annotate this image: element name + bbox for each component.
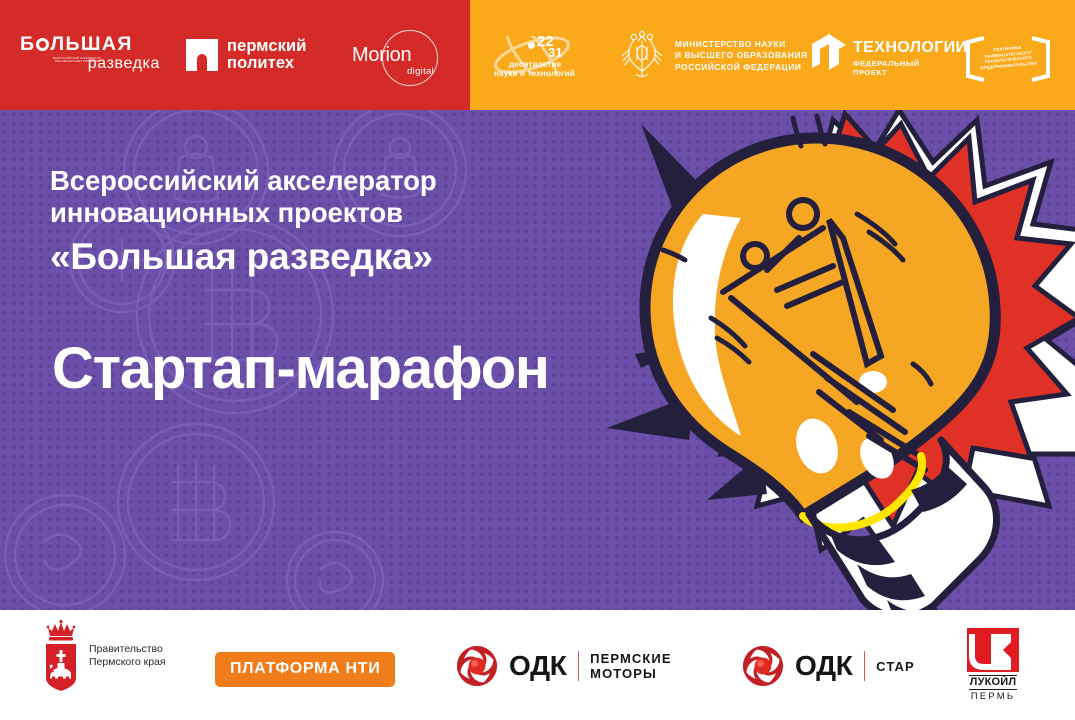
nti-platform-logo: ПЛАТФОРМА НТИ (215, 652, 395, 687)
polytech-wordmark: пермский политех (227, 38, 307, 72)
polytech-line1: пермский (227, 38, 307, 55)
bolshaya-tagline-line2: ИННОВАЦИОННЫХ ПРОЕКТОВ (46, 60, 108, 63)
morion-wordmark: Morion (352, 44, 411, 67)
tech-wordmark: ТЕХНОЛОГИИ ФЕДЕРАЛЬНЫЙ ПРОЕКТ (853, 34, 967, 77)
minobrnauki-line3: РОССИЙСКОЙ ФЕДЕРАЦИИ (675, 62, 808, 74)
odk-divider-star (864, 651, 866, 681)
odk-star-logo: ОДК СТАР (742, 645, 915, 687)
polytech-line2: политех (227, 55, 307, 72)
main-purple-panel: Всероссийский акселератор инновационных … (0, 110, 1075, 610)
tech-subtitle: ФЕДЕРАЛЬНЫЙ ПРОЕКТ (853, 59, 967, 77)
bolshaya-rest: ЛЬШАЯ (50, 33, 132, 55)
odk-pm-sub-line2: МОТОРЫ (590, 666, 671, 681)
university-tech-platform-logo: ПЛАТФОРМА УНИВЕРСИТЕТСКОГО ТЕХНОЛОГИЧЕСК… (962, 36, 1054, 82)
tech-title: ТЕХНОЛОГИИ (853, 39, 967, 56)
tech-sub-line1: ФЕДЕРАЛЬНЫЙ (853, 59, 967, 68)
bolshaya-letter-b: Б (20, 33, 35, 55)
subtitle-line2: инновационных проектов (50, 197, 610, 229)
odk-star-sub: СТАР (876, 659, 915, 674)
lukoil-city: ПЕРМЬ (962, 691, 1024, 703)
magnifier-icon (35, 37, 50, 52)
lukoil-wordmark: ЛУКОЙЛ (969, 675, 1018, 690)
gov-line1: Правительство (89, 643, 166, 657)
morion-digital-logo: Morion digital (352, 30, 444, 88)
lightbulb-pop-art (581, 110, 1075, 610)
minobrnauki-logo: МИНИСТЕРСТВО НАУКИ И ВЫСШЕГО ОБРАЗОВАНИЯ… (620, 30, 808, 82)
decade-science-logo: 22 31 десятилетие науки и технологий (492, 32, 596, 84)
decade-year-to: 31 (548, 46, 562, 59)
tech-federal-project-logo: ТЕХНОЛОГИИ ФЕДЕРАЛЬНЫЙ ПРОЕКТ (812, 34, 967, 77)
bolshaya-razvedka-logo: БЛЬШАЯ разведка ВСЕРОССИЙСКИЙ АКСЕЛЕРАТО… (20, 34, 160, 82)
event-subtitle-block: Всероссийский акселератор инновационных … (50, 165, 610, 282)
bolshaya-tagline: ВСЕРОССИЙСКИЙ АКСЕЛЕРАТОР ИННОВАЦИОННЫХ … (46, 57, 108, 64)
perm-krai-wordmark: Правительство Пермского края (89, 643, 166, 670)
poster-root: БЛЬШАЯ разведка ВСЕРОССИЙСКИЙ АКСЕЛЕРАТО… (0, 0, 1075, 720)
tech-sub-line2: ПРОЕКТ (853, 68, 967, 77)
odk-brand-star: ОДК (795, 651, 853, 681)
gov-line2: Пермского края (89, 656, 166, 670)
decade-line1: десятилетие (509, 60, 561, 69)
morion-subword: digital (407, 66, 434, 77)
double-headed-eagle-icon (620, 30, 664, 82)
perm-coat-of-arms-icon (42, 620, 80, 692)
polytech-arch-icon (186, 39, 218, 71)
minobrnauki-line2: И ВЫСШЕГО ОБРАЗОВАНИЯ (675, 50, 808, 62)
minobrnauki-line1: МИНИСТЕРСТВО НАУКИ (675, 39, 808, 51)
odk-pm-sub-line1: ПЕРМСКИЕ (590, 651, 671, 666)
perm-polytech-logo: пермский политех (186, 38, 307, 72)
perm-krai-government-logo: Правительство Пермского края (42, 620, 166, 692)
decade-line2: науки и технологий (494, 69, 575, 78)
page-title: Стартап-марафон (52, 338, 549, 400)
subtitle-line1: Всероссийский акселератор (50, 165, 610, 197)
program-name: «Большая разведка» (50, 232, 610, 282)
lukoil-perm-logo: ЛУКОЙЛ ПЕРМЬ (962, 628, 1024, 703)
up-arrow-icon (812, 34, 846, 76)
odk-perm-motors-logo: ОДК ПЕРМСКИЕ МОТОРЫ (456, 645, 672, 687)
odk-swirl-icon (742, 645, 784, 687)
odk-brand-pm: ОДК (509, 651, 567, 681)
atom-nucleus-icon (528, 42, 535, 49)
odk-swirl-icon (456, 645, 498, 687)
minobrnauki-wordmark: МИНИСТЕРСТВО НАУКИ И ВЫСШЕГО ОБРАЗОВАНИЯ… (675, 39, 808, 74)
lukoil-glyph-icon (967, 628, 1019, 672)
odk-pm-sub: ПЕРМСКИЕ МОТОРЫ (590, 651, 671, 681)
bolshaya-wordmark: БЛЬШАЯ (20, 34, 160, 54)
odk-divider-pm (578, 651, 580, 681)
lukoil-mark-icon (967, 628, 1019, 672)
